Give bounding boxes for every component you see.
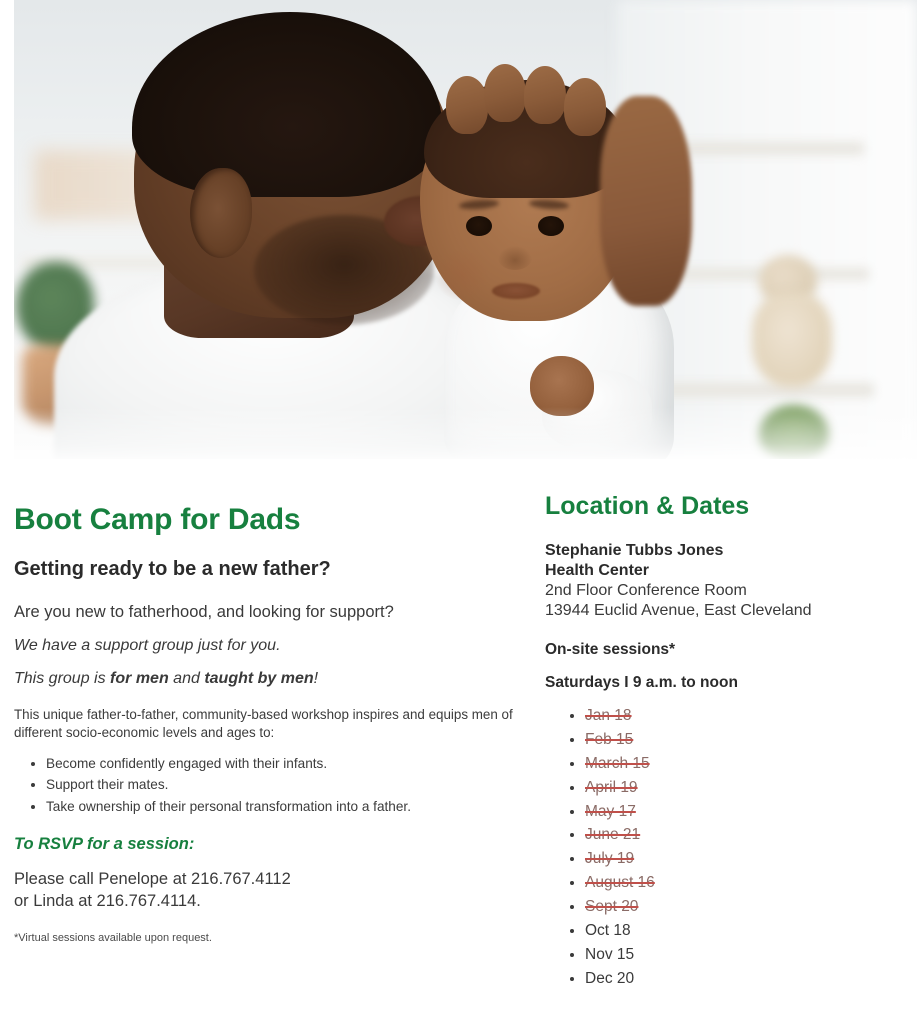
- session-date-item: Feb 15: [585, 728, 905, 752]
- page-title: Boot Camp for Dads: [14, 504, 514, 536]
- benefits-list: Become confidently engaged with their in…: [14, 754, 514, 817]
- virtual-sessions-footnote: *Virtual sessions available upon request…: [14, 932, 514, 944]
- baby-eye: [538, 216, 564, 236]
- workshop-description: This unique father-to-father, community-…: [14, 706, 514, 742]
- list-item: Become confidently engaged with their in…: [46, 754, 514, 774]
- finger: [484, 64, 526, 122]
- session-date-item: Oct 18: [585, 919, 905, 943]
- session-date-item: August 16: [585, 871, 905, 895]
- address-line-2: 13944 Euclid Avenue, East Cleveland: [545, 602, 812, 619]
- subtitle: Getting ready to be a new father?: [14, 558, 514, 580]
- flyer-content: Boot Camp for Dads Getting ready to be a…: [0, 459, 917, 1024]
- session-date-item: Dec 20: [585, 967, 905, 991]
- baby-eye: [466, 216, 492, 236]
- session-date-item: April 19: [585, 776, 905, 800]
- location-dates-title: Location & Dates: [545, 493, 905, 521]
- phone-line-linda[interactable]: or Linda at 216.767.4114.: [14, 892, 201, 910]
- session-date-item: Jan 18: [585, 704, 905, 728]
- for-men-suffix: !: [314, 670, 318, 687]
- onsite-sessions-label: On-site sessions*: [545, 641, 905, 659]
- contact-phones: Please call Penelope at 216.767.4112or L…: [14, 868, 514, 913]
- teddy-bear-icon: [752, 292, 832, 387]
- for-men-bold: for men: [110, 670, 169, 687]
- venue-line-2: Health Center: [545, 562, 649, 579]
- phone-line-penelope[interactable]: Please call Penelope at 216.767.4112: [14, 870, 291, 888]
- for-men-line: This group is for men and taught by men!: [14, 669, 514, 688]
- for-men-prefix: This group is: [14, 670, 110, 687]
- venue-line-1: Stephanie Tubbs Jones: [545, 542, 723, 559]
- session-date-item: Sept 20: [585, 895, 905, 919]
- rsvp-heading: To RSVP for a session:: [14, 835, 514, 854]
- for-men-middle: and: [169, 670, 205, 687]
- session-date-item: March 15: [585, 752, 905, 776]
- finger: [564, 78, 606, 136]
- baby-mouth: [492, 283, 540, 299]
- session-date-item: May 17: [585, 800, 905, 824]
- right-column: Location & Dates Stephanie Tubbs JonesHe…: [545, 459, 905, 990]
- session-date-item: June 21: [585, 823, 905, 847]
- father-ear: [190, 168, 252, 258]
- support-group-line: We have a support group just for you.: [14, 636, 514, 655]
- session-date-item: Nov 15: [585, 943, 905, 967]
- lead-question: Are you new to fatherhood, and looking f…: [14, 603, 514, 623]
- finger: [446, 76, 488, 134]
- photo-bottom-fade: [14, 407, 917, 459]
- baby-cheek: [434, 250, 490, 300]
- session-date-item: July 19: [585, 847, 905, 871]
- hero-photo: [14, 0, 917, 459]
- finger: [524, 66, 566, 124]
- baby-nose: [498, 246, 532, 270]
- list-item: Take ownership of their personal transfo…: [46, 797, 514, 817]
- father-forearm: [600, 96, 692, 306]
- address-line-1: 2nd Floor Conference Room: [545, 582, 747, 599]
- venue-address: 2nd Floor Conference Room13944 Euclid Av…: [545, 581, 905, 623]
- flyer-page: Boot Camp for Dads Getting ready to be a…: [0, 0, 917, 1024]
- taught-by-men-bold: taught by men: [204, 670, 313, 687]
- venue-name: Stephanie Tubbs JonesHealth Center: [545, 541, 905, 581]
- list-item: Support their mates.: [46, 775, 514, 795]
- left-column: Boot Camp for Dads Getting ready to be a…: [14, 459, 514, 944]
- schedule-label: Saturdays I 9 a.m. to noon: [545, 674, 905, 692]
- session-dates-list: Jan 18Feb 15March 15April 19May 17June 2…: [545, 704, 905, 990]
